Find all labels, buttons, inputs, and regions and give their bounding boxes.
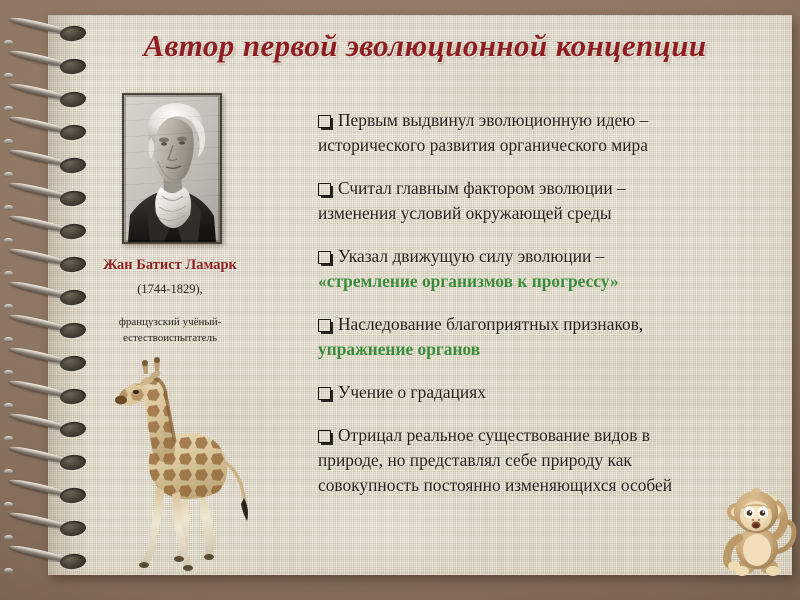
bullet-list: Первым выдвинул эволюционную идею – исто…	[318, 108, 780, 516]
spiral-wire-tip	[4, 205, 13, 210]
bullet-1-line2: исторического развития органического мир…	[318, 133, 780, 158]
spiral-wire-tip	[4, 271, 13, 276]
spiral-wire-tip	[4, 238, 13, 243]
spiral-wire-tip	[4, 139, 13, 144]
page-title: Автор первой эволюционной концепции	[95, 28, 755, 64]
punch-hole	[59, 553, 86, 571]
bullet-6-line3: совокупность постоянно изменяющихся особ…	[318, 473, 780, 498]
portrait-caption-name: Жан Батист Ламарк	[70, 257, 270, 274]
bullet-6-line1: Отрицал реальное существование видов в	[338, 425, 650, 445]
spiral-wire-tip	[4, 304, 13, 309]
punch-hole	[59, 124, 86, 142]
list-item: Первым выдвинул эволюционную идею – исто…	[318, 108, 780, 158]
spiral-wire-tip	[4, 436, 13, 441]
slide-canvas: Автор первой эволюционной концепции	[0, 0, 800, 600]
spiral-wire-tip	[4, 568, 13, 573]
portrait-lamarck	[122, 93, 222, 244]
portrait-caption-role-line2: естествоиспытатель	[70, 332, 270, 344]
spiral-wire-tip	[4, 370, 13, 375]
punch-hole	[59, 355, 86, 373]
punch-hole	[59, 157, 86, 175]
punch-hole	[59, 91, 86, 109]
square-bullet-icon	[318, 115, 331, 128]
list-item: Учение о градациях	[318, 380, 780, 405]
square-bullet-icon	[318, 251, 331, 264]
bullet-2-line1: Считал главным фактором эволюции –	[338, 178, 626, 198]
punch-hole	[59, 25, 86, 43]
bullet-1-line1: Первым выдвинул эволюционную идею –	[338, 110, 648, 130]
spiral-wire-tip	[4, 106, 13, 111]
punch-hole	[59, 487, 86, 505]
spiral-wire-tip	[4, 40, 13, 45]
giraffe-image	[98, 356, 273, 571]
giraffe-icon	[98, 356, 273, 571]
portrait-caption-role-line1: французский учёный-	[70, 316, 270, 328]
portrait-caption-years: (1744-1829),	[70, 282, 270, 297]
spiral-wire-tip	[4, 502, 13, 507]
list-item: Наследование благоприятных признаков, уп…	[318, 312, 780, 362]
punch-hole	[59, 421, 86, 439]
square-bullet-icon	[318, 430, 331, 443]
spiral-wire-tip	[4, 403, 13, 408]
bullet-4-line1: Наследование благоприятных признаков,	[338, 314, 643, 334]
portrait-engraving-icon	[124, 95, 220, 242]
spiral-wire-tip	[4, 337, 13, 342]
punch-hole	[59, 520, 86, 538]
punch-hole	[59, 58, 86, 76]
punch-hole	[59, 388, 86, 406]
punch-hole	[59, 190, 86, 208]
bullet-3-line1: Указал движущую силу эволюции –	[338, 246, 604, 266]
bullet-6-line2: природе, но представлял себе природу как	[318, 448, 780, 473]
square-bullet-icon	[318, 319, 331, 332]
spiral-wire-tip	[4, 73, 13, 78]
bullet-3-line2-highlight: «стремление организмов к прогрессу»	[318, 269, 780, 294]
punch-hole	[59, 223, 86, 241]
square-bullet-icon	[318, 387, 331, 400]
spiral-wire-tip	[4, 469, 13, 474]
spiral-wire-tip	[4, 172, 13, 177]
square-bullet-icon	[318, 183, 331, 196]
bullet-2-line2: изменения условий окружающей среды	[318, 201, 780, 226]
bullet-4-line2-highlight: упражнение органов	[318, 337, 780, 362]
list-item: Считал главным фактором эволюции – измен…	[318, 176, 780, 226]
spiral-wire-tip	[4, 535, 13, 540]
list-item: Отрицал реальное существование видов в п…	[318, 423, 780, 498]
list-item: Указал движущую силу эволюции – «стремле…	[318, 244, 780, 294]
bullet-5-line1: Учение о градациях	[338, 382, 486, 402]
punch-hole	[59, 454, 86, 472]
